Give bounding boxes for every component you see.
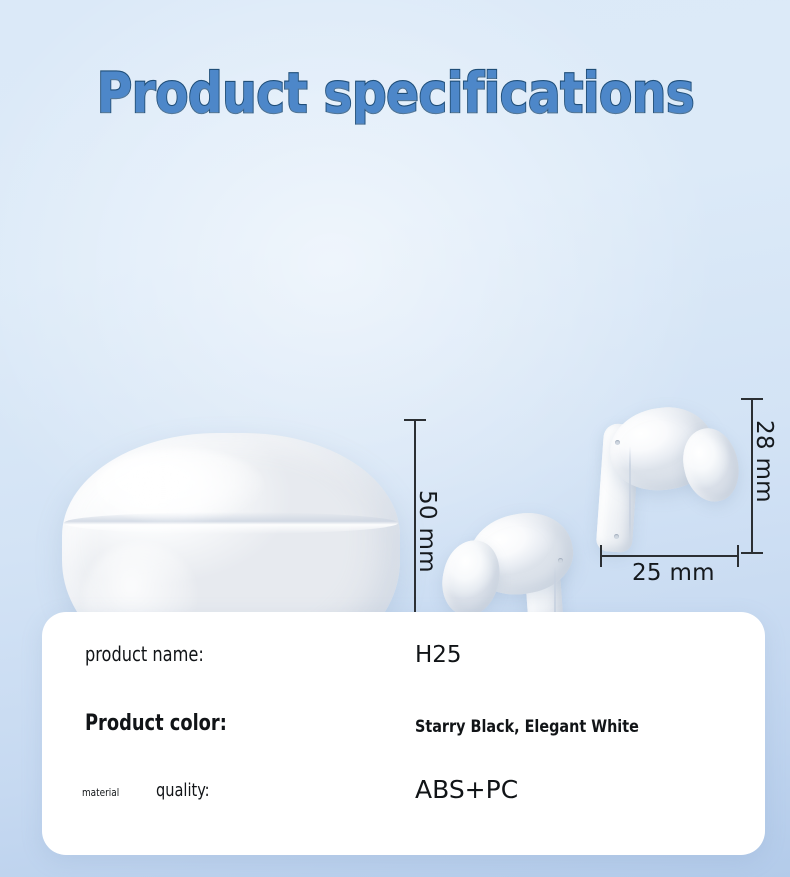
page-title: Product specifications [96, 62, 694, 124]
dimension-label-case-height: 50 mm [414, 490, 440, 573]
product-photo-area: 50 mm 55 mm 28 mm 25 mm [0, 180, 790, 580]
dimension-tick-bud-width-left [600, 545, 602, 567]
earbud-microphone-hole-bottom [614, 534, 619, 539]
dimension-line-bud-width [601, 555, 738, 557]
spec-label-material: material [82, 786, 119, 800]
specifications-card: product name: H25 Product color: Starry … [42, 612, 765, 855]
dimension-tick-bud-width-right [737, 545, 739, 567]
dimension-tick-bud-height-bottom [741, 552, 763, 554]
spec-row-product-color: Product color: Starry Black, Elegant Whi… [42, 710, 765, 760]
earbud-stem-seam [629, 446, 631, 544]
earbud-microphone-hole-top [615, 440, 620, 445]
product-spec-page: Product specifications [0, 0, 790, 877]
dimension-label-bud-height: 28 mm [751, 420, 777, 503]
spec-label-product-color: Product color: [85, 710, 227, 738]
spec-row-material-quality: material quality: ABS+PC [42, 777, 765, 827]
earbud-microphone-hole-top [558, 558, 563, 563]
spec-label-product-name: product name: [85, 640, 204, 668]
dimension-label-bud-width: 25 mm [632, 560, 715, 586]
spec-row-product-name: product name: H25 [42, 640, 765, 690]
spec-label-quality: quality: [156, 779, 210, 803]
dimension-tick-case-height-top [404, 419, 426, 421]
spec-value-product-name: H25 [415, 640, 462, 670]
dimension-tick-bud-height-top [741, 398, 763, 400]
earbud-right-image [588, 402, 738, 554]
charging-case-highlight-top [96, 449, 264, 523]
spec-value-product-color: Starry Black, Elegant White [415, 712, 639, 742]
page-title-container: Product specifications [0, 62, 790, 124]
spec-value-material-quality: ABS+PC [415, 775, 518, 805]
